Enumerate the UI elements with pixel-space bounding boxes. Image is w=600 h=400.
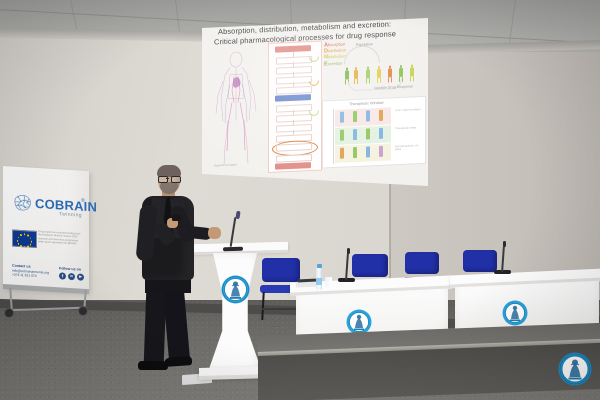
presenter bbox=[120, 165, 225, 380]
eu-funding-text: This project has received funding from t… bbox=[38, 230, 84, 246]
tw-note-therapeutic: Therapeutic range bbox=[395, 126, 423, 131]
presentation-clicker bbox=[172, 215, 181, 221]
population-arc bbox=[344, 45, 380, 65]
podium-emblem bbox=[221, 275, 250, 304]
linkedin-icon: in bbox=[68, 273, 75, 280]
registered-mark: ® bbox=[81, 198, 85, 204]
variable-response-label: Variable Drug Response bbox=[374, 84, 413, 90]
therapeutic-window-panel: Therapeutic Window Toxic / adverse effec… bbox=[322, 96, 426, 169]
eyeglasses-bridge bbox=[166, 178, 169, 179]
slide-content: Absorption, distribution, metabolism and… bbox=[202, 8, 428, 186]
tw-note-subtherapeutic: Sub-therapeutic / no effect bbox=[395, 144, 423, 152]
presenter-beard bbox=[160, 182, 178, 194]
population-figure bbox=[409, 64, 415, 81]
screen-surface: Absorption, distribution, metabolism and… bbox=[196, 8, 432, 194]
flowchart-blue-bar bbox=[275, 94, 311, 101]
banner-caster-wheel bbox=[4, 308, 14, 318]
drinking-glass bbox=[325, 277, 332, 287]
stage-emblem bbox=[558, 352, 592, 386]
youtube-icon: ▶ bbox=[77, 273, 84, 280]
adme-flowchart bbox=[268, 41, 322, 173]
podium-microphone-base bbox=[223, 247, 243, 252]
presenter-hand-right bbox=[208, 227, 221, 239]
contact-details: info@cobrainarmenia.org +374 11 621 074 bbox=[12, 269, 49, 280]
population-label: Population bbox=[356, 42, 373, 47]
human-circulatory-diagram: Systemic circulation bbox=[210, 49, 262, 169]
presenter-shoe-right bbox=[164, 356, 193, 367]
conference-hall-photo: Absorption, distribution, metabolism and… bbox=[0, 0, 600, 400]
population-panel: Population bbox=[320, 34, 424, 97]
presenter-leg-right bbox=[163, 288, 190, 362]
projection-screen: Absorption, distribution, metabolism and… bbox=[196, 8, 432, 194]
brain-network-logo-icon bbox=[12, 193, 34, 214]
follow-heading: Follow us on bbox=[59, 266, 81, 271]
flowchart-footer-bar bbox=[275, 162, 311, 170]
eyeglasses-icon bbox=[171, 176, 181, 183]
desk-microphone-head bbox=[503, 241, 506, 247]
therapeutic-window-title: Therapeutic Window bbox=[349, 101, 384, 107]
desk-emblem-right bbox=[502, 300, 528, 326]
bottle-cap bbox=[317, 264, 322, 268]
banner-caster-wheel bbox=[78, 306, 88, 316]
cobrain-roll-up-banner: COBRAIN ® Twinning This project has rece… bbox=[3, 166, 89, 293]
tw-note-toxic: Toxic / adverse effects bbox=[395, 108, 423, 113]
cobrain-subtitle: Twinning bbox=[59, 211, 82, 218]
eu-flag-icon bbox=[12, 230, 37, 248]
bottle-label bbox=[316, 278, 322, 285]
facebook-icon: f bbox=[59, 272, 66, 279]
desk-microphone-head bbox=[347, 248, 350, 254]
